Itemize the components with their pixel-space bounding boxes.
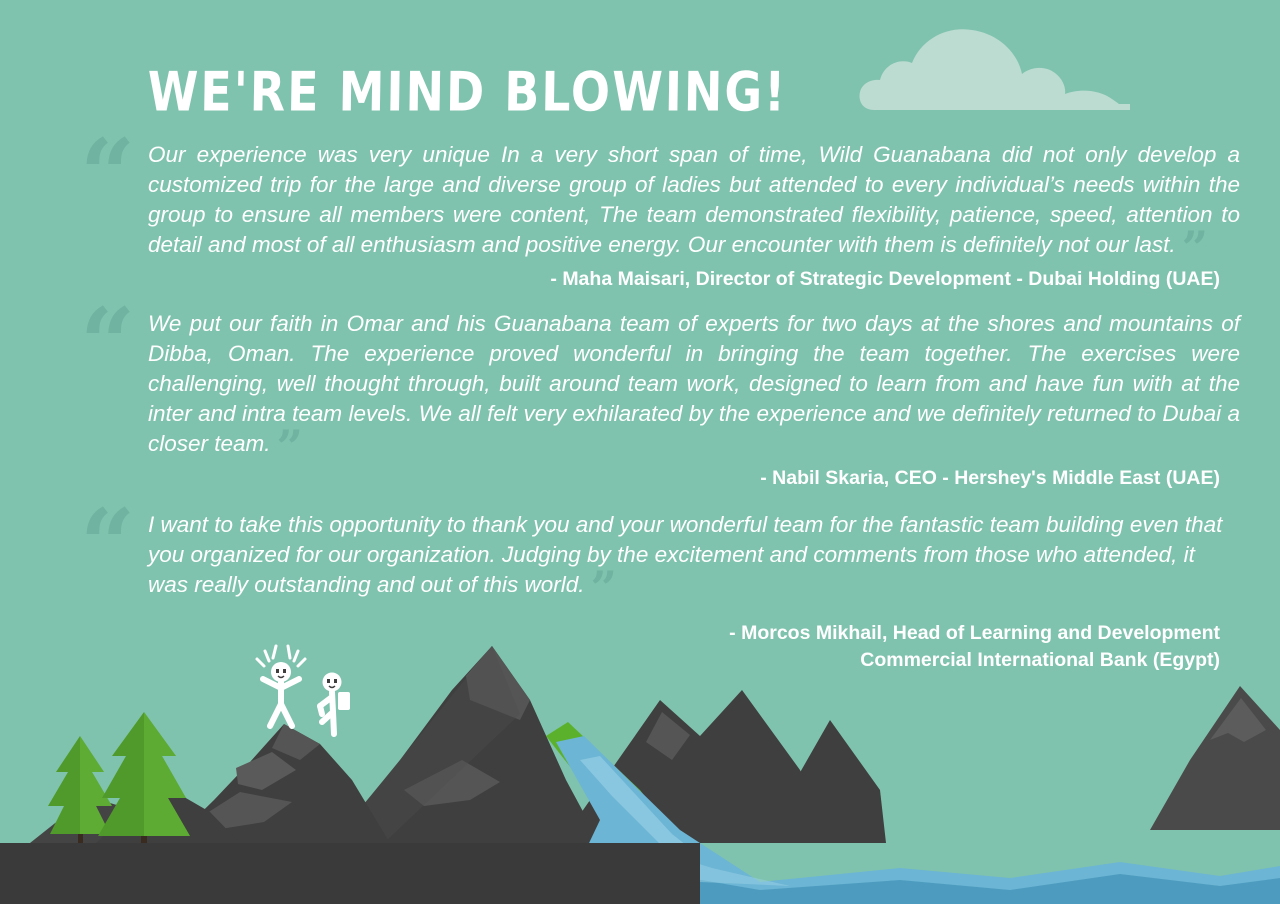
testimonial-quote-text: We put our faith in Omar and his Guanaba…	[148, 311, 1240, 456]
poster-canvas: WE'RE MIND BLOWING! “ Our experience was…	[0, 0, 1280, 904]
testimonial-quote: Our experience was very unique In a very…	[148, 140, 1240, 260]
testimonial-item: “ I want to take this opportunity to tha…	[80, 510, 1240, 674]
testimonial-attribution: - Nabil Skaria, CEO - Hershey's Middle E…	[80, 465, 1240, 492]
page-title: WE'RE MIND BLOWING!	[147, 60, 788, 124]
quote-open-icon: “	[80, 136, 142, 215]
quote-open-icon: “	[80, 506, 142, 585]
testimonial-quote-text: I want to take this opportunity to thank…	[148, 512, 1222, 597]
testimonial-attribution-line1: - Morcos Mikhail, Head of Learning and D…	[729, 622, 1220, 644]
testimonial-quote: I want to take this opportunity to thank…	[148, 510, 1240, 600]
testimonial-attribution-line2: Commercial International Bank (Egypt)	[80, 647, 1220, 674]
testimonials-list: “ Our experience was very unique In a ve…	[80, 140, 1240, 686]
testimonial-attribution: - Maha Maisari, Director of Strategic De…	[80, 266, 1240, 293]
testimonial-attribution: - Morcos Mikhail, Head of Learning and D…	[80, 620, 1240, 674]
quote-open-icon: “	[80, 305, 142, 384]
testimonial-item: “ Our experience was very unique In a ve…	[80, 140, 1240, 293]
testimonial-quote-text: Our experience was very unique In a very…	[148, 142, 1240, 257]
testimonial-quote: We put our faith in Omar and his Guanaba…	[148, 309, 1240, 459]
testimonial-item: “ We put our faith in Omar and his Guana…	[80, 309, 1240, 492]
